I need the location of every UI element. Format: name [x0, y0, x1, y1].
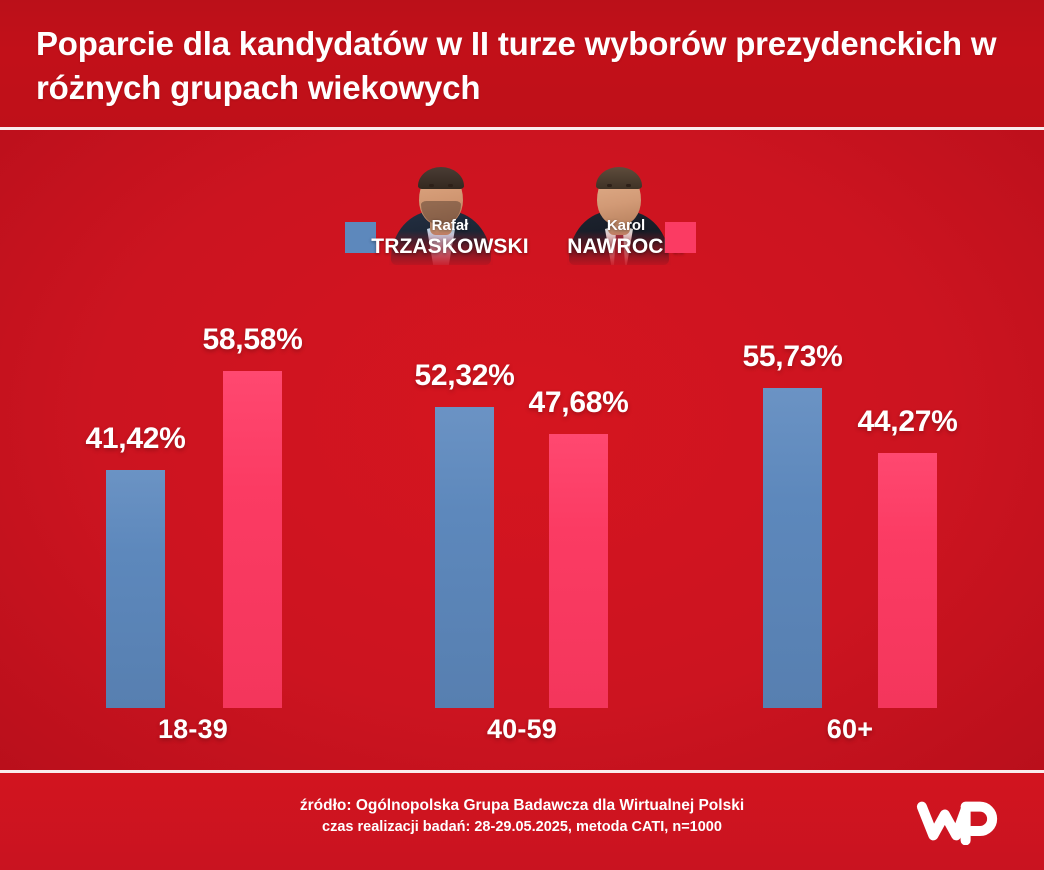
footer-text: źródło: Ogólnopolska Grupa Badawcza dla …	[0, 794, 1044, 839]
category-label-60+: 60+	[735, 714, 965, 745]
infographic-root: Poparcie dla kandydatów w II turze wybor…	[0, 0, 1044, 870]
bar-value-label: 55,73%	[708, 340, 878, 374]
bar-60+-trzaskowski	[763, 388, 822, 708]
bar-18-39-nawrocki	[223, 371, 282, 708]
bar-18-39-trzaskowski	[106, 470, 165, 708]
bar-40-59-trzaskowski	[435, 407, 494, 708]
bar-value-label: 58,58%	[168, 323, 338, 357]
footer-band: źródło: Ogólnopolska Grupa Badawcza dla …	[0, 773, 1044, 870]
footer-source-line: źródło: Ogólnopolska Grupa Badawcza dla …	[0, 794, 1044, 817]
bar-60+-nawrocki	[878, 453, 937, 708]
bar-value-label: 47,68%	[494, 386, 664, 420]
category-label-18-39: 18-39	[78, 714, 308, 745]
bar-chart-plot: 41,42%58,58%18-3952,32%47,68%40-5955,73%…	[0, 0, 1044, 770]
bar-value-label: 41,42%	[51, 422, 221, 456]
footer-method-line: czas realizacji badań: 28-29.05.2025, me…	[0, 817, 1044, 839]
wp-logo	[914, 797, 1000, 845]
bar-value-label: 44,27%	[823, 405, 993, 439]
bar-40-59-nawrocki	[549, 434, 608, 708]
category-label-40-59: 40-59	[407, 714, 637, 745]
